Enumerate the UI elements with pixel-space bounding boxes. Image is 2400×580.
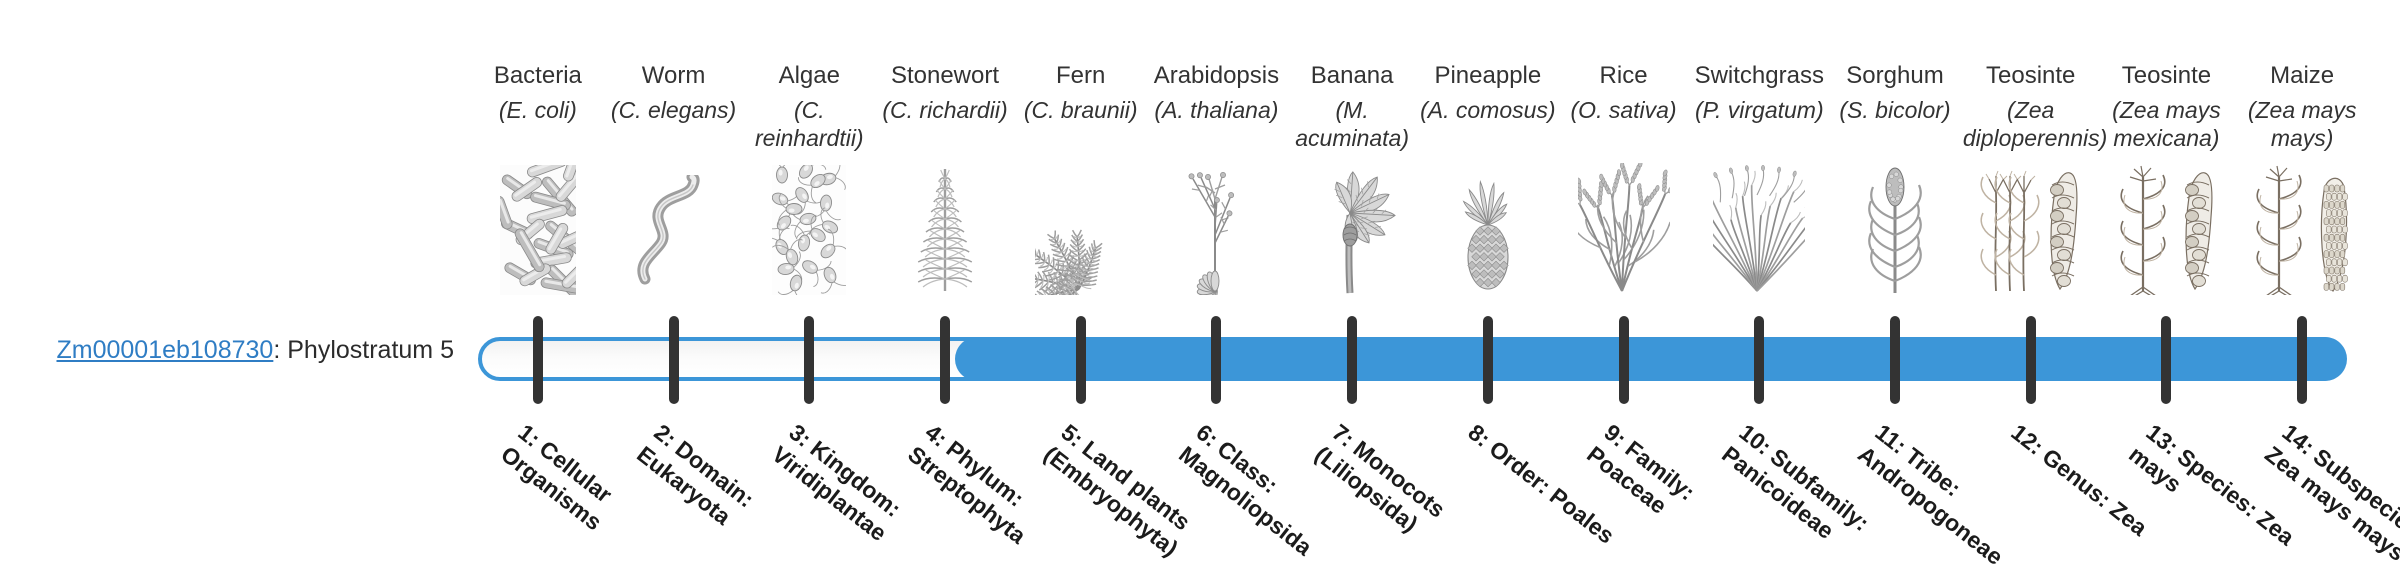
species-common-name: Fern — [1013, 62, 1149, 90]
phylostratum-tick-9[interactable] — [1619, 316, 1629, 404]
species-scientific-name: (M. acuminata) — [1284, 96, 1420, 152]
species-scientific-name: (Zea diploperennis) — [1963, 96, 2099, 152]
worm-illustration — [606, 160, 742, 295]
phylostratum-progress-fill — [955, 337, 2347, 381]
species-common-name: Bacteria — [470, 62, 606, 90]
gene-id-link[interactable]: Zm00001eb108730 — [56, 336, 273, 364]
rank-label-14: 14: Subspecies: Zea mays mays — [2260, 418, 2400, 580]
phylostratum-tick-4[interactable] — [940, 316, 950, 404]
species-column-2: Worm(C. elegans) 2: Domain: Eukaryota — [606, 0, 742, 580]
species-common-name: Sorghum — [1827, 62, 1963, 90]
species-common-name: Pineapple — [1420, 62, 1556, 90]
species-columns: Bacteria(E. coli) — [470, 0, 2370, 580]
species-common-name: Banana — [1284, 62, 1420, 90]
phylostratum-tick-12[interactable] — [2026, 316, 2036, 404]
species-scientific-name: (O. sativa) — [1556, 96, 1692, 124]
species-column-3: Algae(C. reinhardtii) — [741, 0, 877, 580]
teosinte-mexicana-illustration — [2099, 160, 2235, 295]
algae-illustration — [741, 160, 877, 295]
species-scientific-name: (A. thaliana) — [1149, 96, 1285, 124]
species-common-name: Switchgrass — [1691, 62, 1827, 90]
species-common-name: Worm — [606, 62, 742, 90]
species-scientific-name: (Zea mays mexicana) — [2099, 96, 2235, 152]
switchgrass-illustration — [1691, 160, 1827, 295]
species-common-name: Maize — [2234, 62, 2370, 90]
species-common-name: Teosinte — [2099, 62, 2235, 90]
species-column-9: Rice(O. sativa) — [1556, 0, 1692, 580]
species-column-10: Switchgrass(P. virgatum) — [1691, 0, 1827, 580]
species-scientific-name: (C. reinhardtii) — [741, 96, 877, 152]
rice-illustration — [1556, 160, 1692, 295]
phylostratum-tick-1[interactable] — [533, 316, 543, 404]
species-column-11: Sorghum(S. bicolor)11: Tribe: Andropogon… — [1827, 0, 1963, 580]
bacteria-illustration — [470, 160, 606, 295]
phylostratum-tick-6[interactable] — [1211, 316, 1221, 404]
species-column-13: Teosinte(Zea mays mexicana) 13: Species:… — [2099, 0, 2235, 580]
species-scientific-name: (Zea mays mays) — [2234, 96, 2370, 152]
species-scientific-name: (C. elegans) — [606, 96, 742, 124]
phylostratum-value: Phylostratum 5 — [287, 336, 454, 364]
species-common-name: Teosinte — [1963, 62, 2099, 90]
phylostratum-tick-8[interactable] — [1483, 316, 1493, 404]
species-column-1: Bacteria(E. coli) — [470, 0, 606, 580]
species-column-12: Teosinte(Zea diploperennis) 12: Genus: Z… — [1963, 0, 2099, 580]
phylostratum-tick-3[interactable] — [804, 316, 814, 404]
species-scientific-name: (S. bicolor) — [1827, 96, 1963, 124]
fern-illustration — [1013, 160, 1149, 295]
gene-label-separator: : — [273, 336, 287, 364]
species-column-7: Banana(M. acuminata) — [1284, 0, 1420, 580]
species-common-name: Rice — [1556, 62, 1692, 90]
species-column-6: Arabidopsis(A. thaliana) — [1149, 0, 1285, 580]
banana-illustration — [1284, 160, 1420, 295]
phylostratum-tick-2[interactable] — [669, 316, 679, 404]
phylostratum-tick-14[interactable] — [2297, 316, 2307, 404]
phylostratum-tick-7[interactable] — [1347, 316, 1357, 404]
species-column-8: Pineapple(A. comosus) 8: Order: Poales — [1420, 0, 1556, 580]
species-scientific-name: (E. coli) — [470, 96, 606, 124]
phylostratum-tick-10[interactable] — [1754, 316, 1764, 404]
species-scientific-name: (C. braunii) — [1013, 96, 1149, 124]
maize-illustration — [2234, 160, 2370, 295]
species-column-4: Stonewort(C. richardii)4: Phylum: Strept… — [877, 0, 1013, 580]
species-column-14: Maize(Zea mays mays) 14: Subspecies: Zea… — [2234, 0, 2370, 580]
phylostratum-tick-5[interactable] — [1076, 316, 1086, 404]
pineapple-illustration — [1420, 160, 1556, 295]
species-scientific-name: (P. virgatum) — [1691, 96, 1827, 124]
arabidopsis-illustration — [1149, 160, 1285, 295]
species-scientific-name: (C. richardii) — [877, 96, 1013, 124]
species-column-5: Fern(C. braunii)5: Land plants (Embryoph… — [1013, 0, 1149, 580]
species-common-name: Arabidopsis — [1149, 62, 1285, 90]
phylostratum-tick-11[interactable] — [1890, 316, 1900, 404]
species-common-name: Algae — [741, 62, 877, 90]
sorghum-illustration — [1827, 160, 1963, 295]
phylostratum-timeline: Zm00001eb108730: Phylostratum 5 Bacteria… — [0, 0, 2400, 580]
teosinte-diploperennis-illustration — [1963, 160, 2099, 295]
phylostratum-tick-13[interactable] — [2161, 316, 2171, 404]
gene-phylostratum-label: Zm00001eb108730: Phylostratum 5 — [0, 336, 470, 365]
stonewort-illustration — [877, 160, 1013, 295]
species-common-name: Stonewort — [877, 62, 1013, 90]
species-scientific-name: (A. comosus) — [1420, 96, 1556, 124]
